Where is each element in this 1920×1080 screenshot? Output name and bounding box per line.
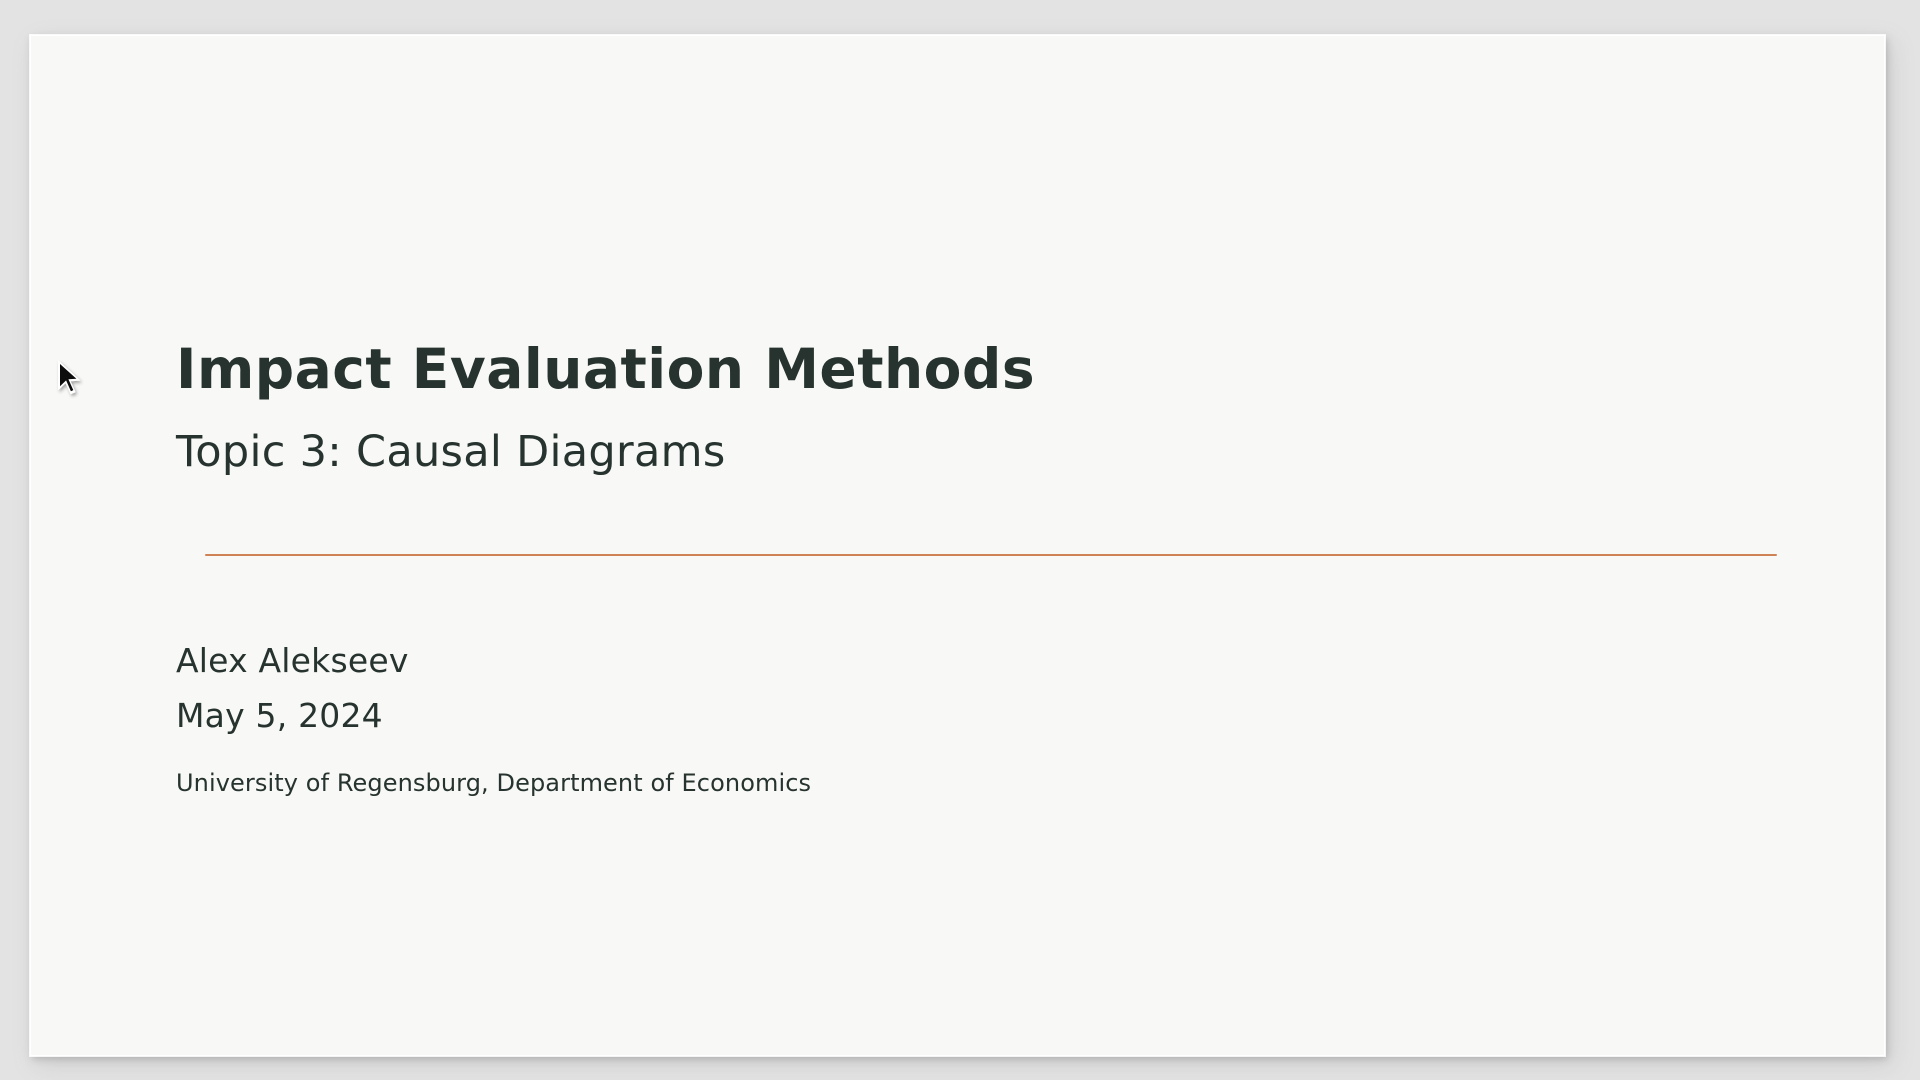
slide-surface[interactable]: Impact Evaluation Methods Topic 3: Causa…	[30, 35, 1885, 1056]
slide-content: Impact Evaluation Methods Topic 3: Causa…	[31, 36, 1884, 1055]
page-title: Impact Evaluation Methods	[176, 342, 1035, 397]
slide-subtitle: Topic 3: Causal Diagrams	[176, 431, 726, 474]
slide-viewer[interactable]: Impact Evaluation Methods Topic 3: Causa…	[0, 0, 1920, 1080]
accent-divider	[205, 554, 1777, 556]
institution-affiliation: University of Regensburg, Department of …	[176, 771, 811, 795]
author-name: Alex Alekseev	[176, 644, 409, 677]
presentation-date: May 5, 2024	[176, 699, 383, 732]
